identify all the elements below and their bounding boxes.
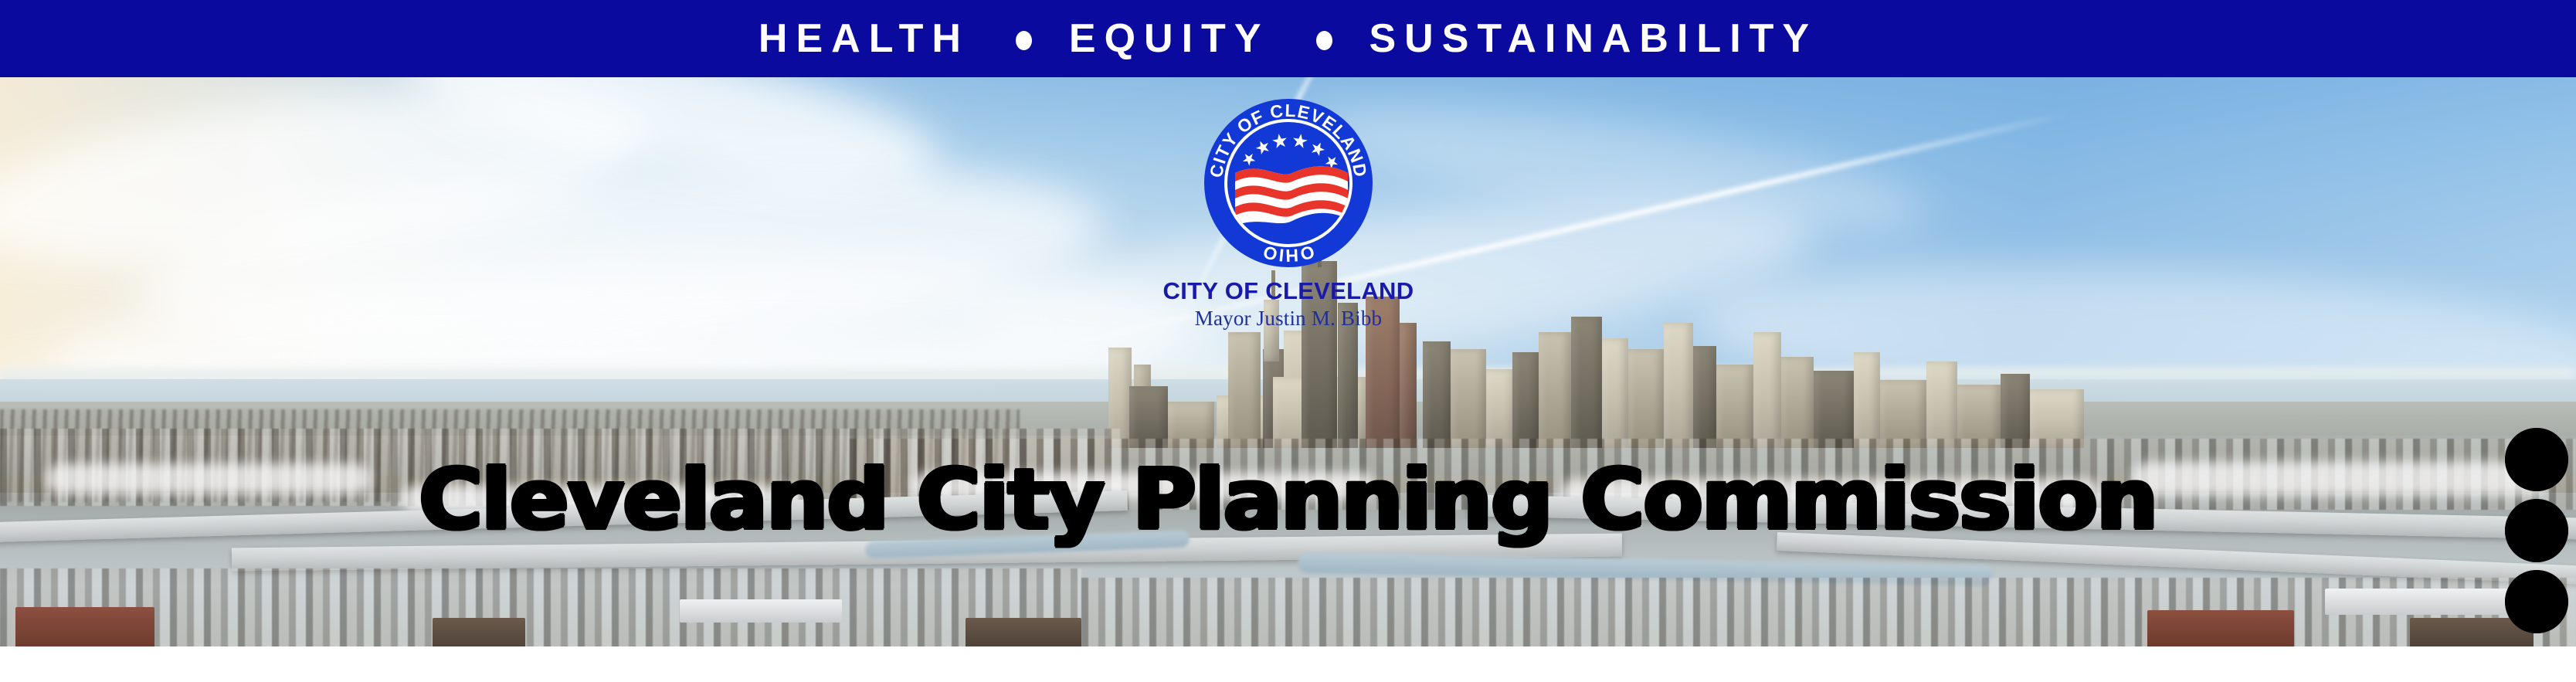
- facebook-icon: [2505, 570, 2568, 633]
- youtube-icon: [2505, 428, 2568, 491]
- facebook-link[interactable]: [2505, 570, 2568, 633]
- instagram-icon: [2505, 499, 2568, 562]
- tagline-word-equity: EQUITY: [1069, 19, 1270, 59]
- seal-inner-emblem: [1224, 119, 1352, 247]
- city-name: CITY OF CLEVELAND: [1122, 278, 1454, 304]
- city-lockup: CITY OF CLEVELAND OHIO: [1122, 99, 1454, 323]
- tagline-text: HEALTH EQUITY SUSTAINABILITY: [759, 19, 1817, 59]
- city-of-cleveland-seal-icon: CITY OF CLEVELAND OHIO: [1204, 99, 1373, 267]
- seal-stars: [1240, 133, 1341, 171]
- instagram-link[interactable]: [2505, 499, 2568, 562]
- tagline-banner: HEALTH EQUITY SUSTAINABILITY: [0, 0, 2576, 77]
- bottom-white-strip: [0, 646, 2576, 682]
- bullet-dot-icon: [1016, 31, 1032, 50]
- mayor-name: Mayor Justin M. Bibb: [1122, 307, 1454, 331]
- page-title: Cleveland City Planning Commission: [0, 459, 2576, 542]
- youtube-link[interactable]: [2505, 428, 2568, 491]
- bullet-dot-icon: [1316, 31, 1332, 50]
- seal-flag: [1235, 166, 1348, 226]
- tagline-word-health: HEALTH: [759, 19, 969, 59]
- social-links: [2505, 428, 2568, 633]
- page-root: HEALTH EQUITY SUSTAINABILITY: [0, 0, 2576, 682]
- foreground-houses: [0, 568, 1081, 646]
- tagline-word-sustainability: SUSTAINABILITY: [1369, 19, 1818, 59]
